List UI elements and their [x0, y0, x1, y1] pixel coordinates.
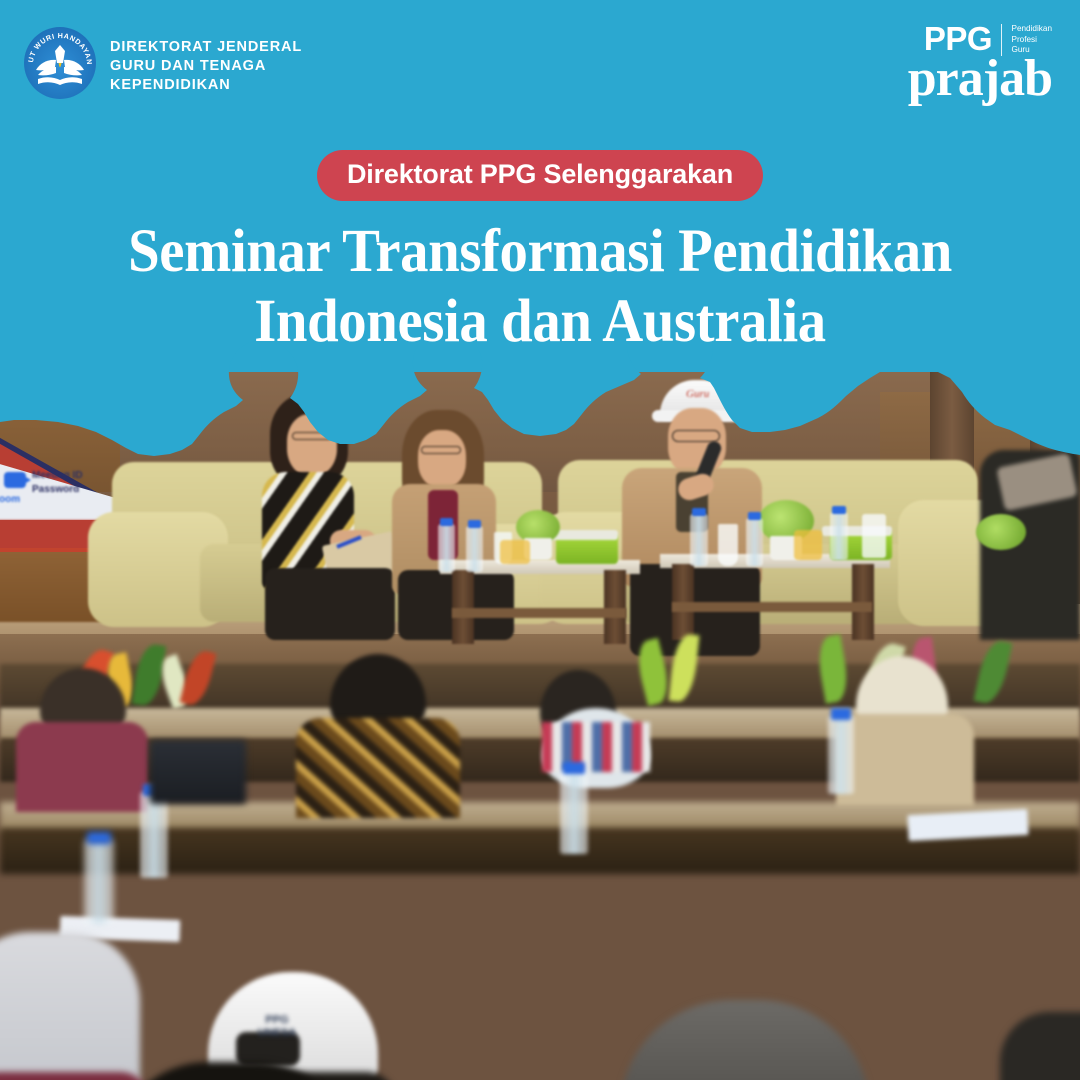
department-line-3: KEPENDIDIKAN — [110, 76, 302, 95]
coffee-table-left-leg-b — [604, 570, 626, 644]
poster-canvas: Meeting ID Password zoom Guru — [0, 0, 1080, 1080]
audience-front-grayhair-head — [620, 1000, 870, 1080]
bottle-t5 — [830, 512, 848, 560]
sanitizer-bottle — [862, 514, 886, 558]
wine-glass-t3 — [718, 524, 738, 566]
panelist-2-glasses — [421, 446, 461, 454]
panelist-1-trousers — [265, 568, 395, 640]
department-name: DIREKTORAT JENDERAL GURU DAN TENAGA KEPE… — [110, 38, 302, 95]
headline-line-2: Indonesia dan Australia — [38, 287, 1042, 357]
seminar-photograph: Meeting ID Password zoom Guru — [0, 372, 1080, 1080]
audience-right-edge — [1000, 1012, 1080, 1080]
bottle-t4-cap — [748, 512, 761, 520]
audience-front-hijab-gray — [0, 932, 140, 1080]
bottle-front-3 — [560, 770, 588, 854]
badge-direktorat-ppg: Direktorat PPG Selenggarakan — [317, 150, 763, 201]
table-plant-far-right — [976, 514, 1026, 550]
audience-cap-1-text: PPG UNESA — [250, 1014, 304, 1040]
prajab-wordmark: prajab — [908, 54, 1052, 104]
seminar-headline: Seminar Transformasi Pendidikan Indonesi… — [38, 217, 1042, 357]
tut-wuri-handayani-logo: TUT WURI HANDAYANI — [24, 27, 96, 99]
audience-mid-2-body — [16, 722, 148, 812]
snack-t3 — [794, 530, 822, 560]
ppg-expansion-line-1: Pendidikan — [1011, 24, 1052, 35]
bottle-t1 — [438, 524, 455, 572]
poster-header: TUT WURI HANDAYANI DIREKTORAT JENDERAL G… — [0, 0, 1080, 130]
zoom-wordmark: zoom — [0, 494, 20, 505]
bottle-t2 — [466, 526, 483, 572]
bottle-t3-cap — [692, 508, 706, 516]
speaker-cap-logo: Guru — [686, 388, 716, 402]
panelist-1-face — [287, 414, 337, 476]
audience-mid-blonde-body — [836, 714, 974, 806]
headline-line-1: Seminar Transformasi Pendidikan — [38, 217, 1042, 287]
department-line-1: DIREKTORAT JENDERAL — [110, 38, 302, 57]
bottle-t2-cap — [468, 520, 481, 528]
bottle-front-3-cap — [563, 762, 585, 774]
bottle-t3 — [690, 514, 708, 566]
bottle-t1-cap — [440, 518, 453, 526]
bottle-front-4 — [828, 716, 854, 794]
snack-t1 — [500, 540, 530, 564]
bottle-t5-cap — [832, 506, 846, 514]
coffee-table-left-leg-a — [452, 570, 474, 644]
bottle-front-5-cap — [87, 832, 111, 844]
zoom-camera-icon — [4, 472, 26, 488]
title-block: Direktorat PPG Selenggarakan Seminar Tra… — [0, 150, 1080, 357]
bottle-front-5 — [84, 840, 114, 924]
coffee-table-left-shelf — [452, 608, 626, 618]
department-line-2: GURU DAN TENAGA — [110, 57, 302, 76]
panelist-2-face — [418, 430, 466, 488]
ppg-prajab-logo: PPG Pendidikan Profesi Guru prajab — [908, 22, 1052, 104]
ppg-expansion-line-2: Profesi — [1011, 35, 1052, 46]
coffee-table-right-shelf — [672, 602, 872, 612]
bottle-t4 — [746, 518, 763, 566]
audience-front-hijab-gray-body — [0, 1072, 150, 1080]
audience-mid-3-batik — [296, 718, 460, 818]
audience-mid-1-scarf — [542, 722, 650, 772]
bottle-front-4-cap — [831, 708, 851, 720]
bottle-front-1 — [140, 792, 168, 878]
laptop-screen — [150, 740, 246, 804]
logo-artwork: TUT WURI HANDAYANI — [24, 27, 96, 99]
panelist-1-glasses — [292, 432, 332, 440]
